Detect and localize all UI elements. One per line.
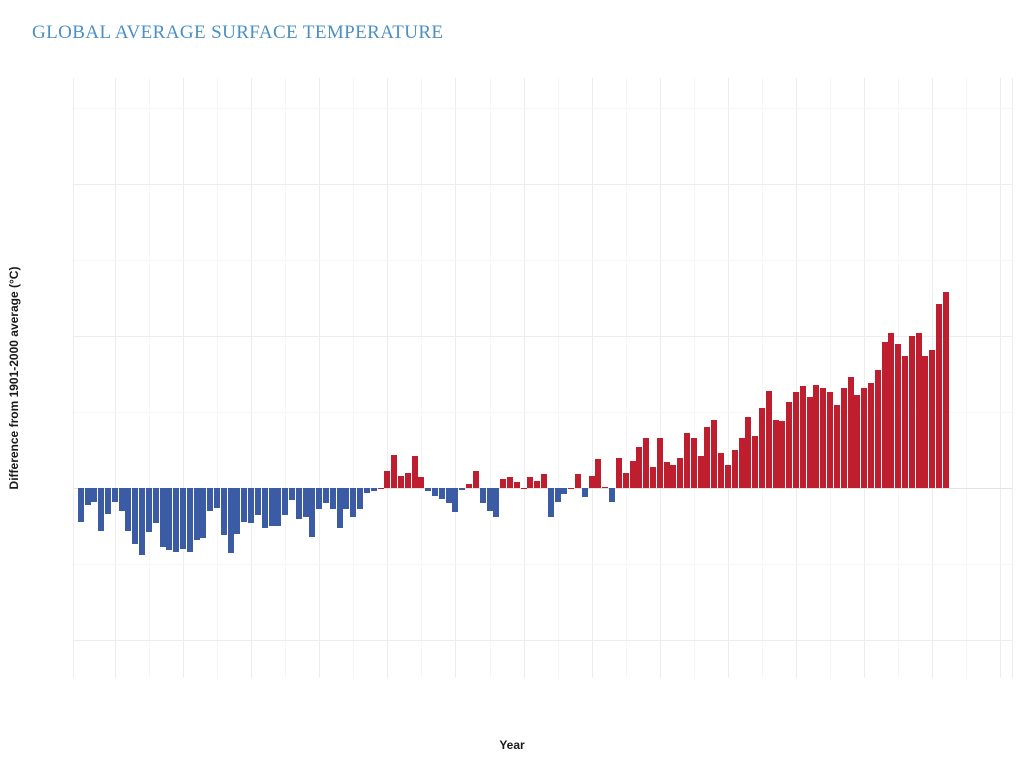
bar-1901	[119, 488, 125, 511]
bar-1959	[514, 482, 520, 488]
bar-1969	[582, 488, 588, 497]
bar-1994	[752, 436, 758, 488]
bar-1900	[112, 488, 118, 502]
bar-1998	[779, 421, 785, 488]
bar-2010	[861, 388, 867, 488]
bar-1897	[91, 488, 97, 502]
bar-1905	[146, 488, 152, 532]
bar-1920	[248, 488, 254, 523]
bar-1898	[98, 488, 104, 531]
bar-1964	[548, 488, 554, 517]
bar-1917	[228, 488, 234, 553]
bar-2016	[902, 356, 908, 488]
bar-1937	[364, 488, 370, 493]
bar-1986	[698, 456, 704, 488]
bar-1909	[173, 488, 179, 552]
bar-2001	[800, 386, 806, 488]
bar-1946	[425, 488, 431, 491]
bar-1955	[487, 488, 493, 511]
bar-1985	[691, 438, 697, 488]
bar-1915	[214, 488, 220, 508]
bar-1999	[786, 402, 792, 489]
bar-1971	[595, 459, 601, 488]
bar-1936	[357, 488, 363, 509]
bar-1902	[125, 488, 131, 531]
bar-1974	[616, 458, 622, 488]
bar-1916	[221, 488, 227, 535]
bar-1962	[534, 481, 540, 489]
bar-1928	[303, 488, 309, 517]
bar-1993	[745, 417, 751, 488]
bar-1980	[657, 438, 663, 488]
bar-1932	[330, 488, 336, 509]
bar-2011	[868, 383, 874, 488]
bar-1968	[575, 474, 581, 488]
bar-1927	[296, 488, 302, 518]
bar-1912	[194, 488, 200, 540]
bar-1989	[718, 453, 724, 488]
bar-1913	[200, 488, 206, 538]
bar-1987	[704, 427, 710, 488]
bar-1961	[527, 477, 533, 488]
bar-2018	[916, 333, 922, 488]
bar-1906	[153, 488, 159, 523]
bar-1911	[187, 488, 193, 552]
bar-2020	[929, 350, 935, 488]
bar-2015	[895, 344, 901, 488]
bar-2007	[841, 388, 847, 488]
bar-1925	[282, 488, 288, 515]
bar-1929	[309, 488, 315, 537]
bar-1944	[412, 456, 418, 488]
bar-1908	[166, 488, 172, 550]
bar-1895	[78, 488, 84, 521]
bar-series	[74, 78, 1012, 678]
bar-1977	[636, 447, 642, 488]
bar-1924	[275, 488, 281, 526]
bar-1975	[623, 473, 629, 488]
bar-1992	[739, 438, 745, 488]
bar-2012	[875, 370, 881, 488]
bar-1951	[459, 488, 465, 490]
bar-2017	[909, 336, 915, 488]
bar-1982	[670, 465, 676, 488]
bar-1952	[466, 484, 472, 489]
bar-1966	[561, 488, 567, 494]
bar-1979	[650, 467, 656, 488]
bar-1988	[711, 420, 717, 488]
bar-1996	[766, 391, 772, 488]
bar-1931	[323, 488, 329, 503]
bar-2013	[882, 342, 888, 488]
bar-1940	[384, 471, 390, 488]
bar-1991	[732, 450, 738, 488]
bar-1948	[439, 488, 445, 499]
bar-1899	[105, 488, 111, 514]
bar-1983	[677, 458, 683, 488]
bar-1958	[507, 477, 513, 488]
bar-2000	[793, 392, 799, 488]
bar-1942	[398, 476, 404, 488]
bar-1923	[269, 488, 275, 526]
bar-1926	[289, 488, 295, 500]
chart-canvas: Difference from 1901-2000 average (°C) Y…	[0, 0, 1024, 768]
bar-2003	[813, 385, 819, 488]
bar-1903	[132, 488, 138, 544]
bar-1995	[759, 408, 765, 489]
bar-2009	[854, 395, 860, 488]
bar-2006	[834, 405, 840, 489]
bar-2014	[888, 333, 894, 488]
bar-2005	[827, 392, 833, 488]
bar-1938	[371, 488, 377, 491]
bar-1943	[405, 473, 411, 488]
bar-1976	[630, 461, 636, 488]
bar-1950	[452, 488, 458, 512]
bar-2021	[936, 304, 942, 488]
bar-1984	[684, 433, 690, 488]
bar-1896	[85, 488, 91, 505]
y-axis-title: Difference from 1901-2000 average (°C)	[7, 267, 21, 490]
bar-1922	[262, 488, 268, 527]
bar-1963	[541, 474, 547, 488]
bar-1918	[234, 488, 240, 534]
bar-2019	[922, 356, 928, 488]
bar-1941	[391, 455, 397, 488]
bar-1919	[241, 488, 247, 521]
bar-1914	[207, 488, 213, 511]
bar-1904	[139, 488, 145, 555]
bar-1910	[180, 488, 186, 549]
bar-1907	[160, 488, 166, 547]
bar-1957	[500, 479, 506, 488]
bar-1930	[316, 488, 322, 509]
bar-1935	[350, 488, 356, 517]
bar-1945	[418, 477, 424, 488]
bar-1921	[255, 488, 261, 515]
plot-area	[73, 78, 1013, 678]
bar-2008	[848, 377, 854, 488]
bar-1972	[602, 487, 608, 489]
bar-1939	[378, 488, 384, 489]
bar-1947	[432, 488, 438, 496]
bar-1978	[643, 438, 649, 488]
bar-1960	[521, 488, 527, 489]
bar-1981	[664, 462, 670, 488]
bar-1973	[609, 488, 615, 502]
bar-2002	[807, 397, 813, 488]
bar-1934	[343, 488, 349, 509]
bar-1990	[725, 465, 731, 488]
bar-1949	[446, 488, 452, 503]
bar-1953	[473, 471, 479, 488]
bar-1997	[773, 420, 779, 488]
bar-1965	[555, 488, 561, 502]
bar-1956	[493, 488, 499, 517]
bar-1933	[337, 488, 343, 527]
bar-2004	[820, 388, 826, 488]
x-axis-title: Year	[0, 738, 1024, 752]
bar-1954	[480, 488, 486, 503]
bar-1967	[568, 488, 574, 489]
bar-2022	[943, 292, 949, 488]
bar-1970	[589, 476, 595, 488]
